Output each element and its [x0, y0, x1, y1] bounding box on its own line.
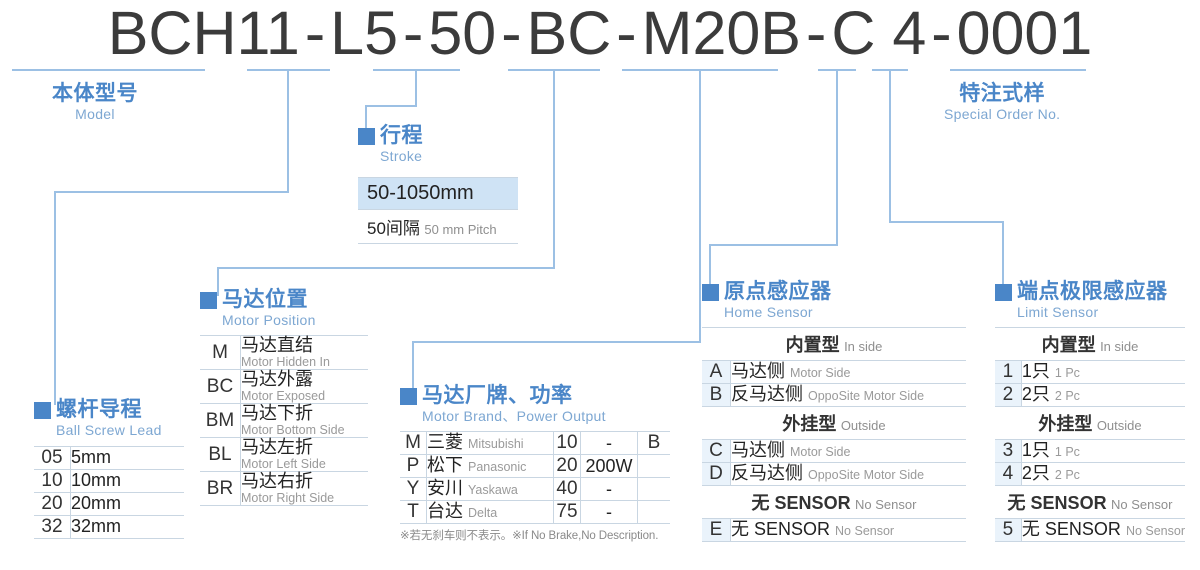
row-value-cn: 马达右折 — [241, 472, 368, 491]
row-power-code: 40 — [554, 478, 581, 501]
wire-stroke — [366, 70, 416, 132]
row-value: 马达下折 Motor Bottom Side — [241, 404, 369, 438]
bullet-square-icon — [200, 292, 217, 309]
table-row: 10 10mm — [34, 470, 184, 493]
row-value: 32mm — [71, 516, 185, 539]
row-brand: 松下Panasonic — [427, 455, 554, 478]
bullet-square-icon — [995, 284, 1012, 301]
table-row: 50间隔 50 mm Pitch — [358, 210, 518, 244]
row-brand: 三菱Mitsubishi — [427, 432, 554, 455]
row-value-en: 1 Pc — [1055, 366, 1080, 380]
block-stroke: 行程 Stroke 50-1050mm 50间隔 50 mm Pitch — [358, 124, 518, 244]
table-row-band: 无 SENSOR No Sensor — [702, 486, 966, 519]
row-value: 马达外露 Motor Exposed — [241, 370, 369, 404]
block-limit-sensor-title-cn: 端点极限感应器 — [1017, 280, 1168, 304]
stroke-pitch-cn: 50间隔 — [367, 219, 420, 238]
block-ball-screw-title-en: Ball Screw Lead — [56, 422, 184, 439]
band-cn: 外挂型 — [782, 414, 836, 434]
row-value: 10mm — [71, 470, 185, 493]
table-row-band: 外挂型 Outside — [702, 407, 966, 440]
block-home-sensor-title-cn: 原点感应器 — [724, 280, 832, 304]
row-key: 3 — [995, 440, 1021, 463]
code-dash: - — [926, 3, 956, 64]
motor-brand-table: M 三菱Mitsubishi 10 - B P 松下Panasonic 20 2… — [400, 431, 670, 524]
row-brand-en: Delta — [468, 506, 497, 520]
block-stroke-heading: 行程 — [358, 124, 518, 148]
row-value: 2只2 Pc — [1021, 384, 1185, 407]
table-row: 2 2只2 Pc — [995, 384, 1185, 407]
table-row: E 无 SENSORNo Sensor — [702, 519, 966, 542]
band-en: In side — [844, 339, 882, 354]
block-model: 本体型号 Model — [52, 82, 138, 123]
row-value-en: 2 Pc — [1055, 389, 1080, 403]
row-value-cn: 无 SENSOR — [1022, 519, 1121, 539]
row-value-en: Motor Hidden In — [241, 356, 368, 369]
row-value-en: Motor Exposed — [241, 390, 368, 403]
row-key: BM — [200, 404, 241, 438]
band-inside: 内置型 In side — [995, 328, 1185, 361]
row-value: 马达直结 Motor Hidden In — [241, 336, 369, 370]
row-brand-cn: 安川 — [427, 478, 463, 498]
row-key: C — [702, 440, 731, 463]
row-brake-code — [638, 501, 671, 524]
row-key: 2 — [995, 384, 1021, 407]
bullet-square-icon — [400, 388, 417, 405]
block-motor-brand-title-en: Motor Brand、Power Output — [422, 408, 670, 425]
row-power-code: 20 — [554, 455, 581, 478]
row-brand-en: Yaskawa — [468, 483, 518, 497]
stroke-pitch-cell: 50间隔 50 mm Pitch — [358, 210, 518, 244]
motor-brand-rows: M 三菱Mitsubishi 10 - B P 松下Panasonic 20 2… — [400, 432, 670, 524]
row-key: 4 — [995, 463, 1021, 486]
block-stroke-title-cn: 行程 — [380, 124, 423, 148]
row-value: 1只1 Pc — [1021, 361, 1185, 384]
row-brand-cn: 台达 — [427, 501, 463, 521]
table-row: M 三菱Mitsubishi 10 - B — [400, 432, 670, 455]
code-segment-lead: L5 — [330, 3, 398, 64]
code-segment-special: 0001 — [957, 3, 1093, 64]
table-row: BM 马达下折 Motor Bottom Side — [200, 404, 368, 438]
limit-sensor-table: 内置型 In side 1 1只1 Pc 2 2只2 Pc — [995, 327, 1185, 542]
table-row: C 马达侧Motor Side — [702, 440, 966, 463]
row-power-text: 200W — [585, 456, 632, 476]
band-cn: 内置型 — [1042, 335, 1096, 355]
band-cn: 无 SENSOR — [752, 493, 851, 513]
table-row: 3 1只1 Pc — [995, 440, 1185, 463]
row-key: BL — [200, 438, 241, 472]
band-outside: 外挂型 Outside — [995, 407, 1185, 440]
block-limit-sensor: 端点极限感应器 Limit Sensor 内置型 In side 1 1只1 P… — [995, 280, 1185, 542]
home-sensor-table: 内置型 In side A 马达侧Motor Side B 反马达侧OppoSi… — [702, 327, 966, 542]
row-value-cn: 2只 — [1022, 384, 1050, 404]
stroke-range-cell: 50-1050mm — [358, 178, 518, 210]
row-power-watt: - — [581, 501, 638, 524]
row-value: 20mm — [71, 493, 185, 516]
row-value-cn: 马达侧 — [731, 440, 785, 460]
band-en: Outside — [841, 418, 886, 433]
row-value-cn: 1只 — [1022, 440, 1050, 460]
row-brand-en: Panasonic — [468, 460, 526, 474]
motor-brand-footnote: ※若无刹车则不表示。※If No Brake,No Description. — [400, 527, 670, 543]
band-en: In side — [1100, 339, 1138, 354]
code-segment-motor-pos: BC — [527, 3, 612, 64]
row-power-watt: - — [581, 432, 638, 455]
table-row-band: 内置型 In side — [995, 328, 1185, 361]
block-motor-position-heading: 马达位置 — [200, 288, 368, 312]
code-dash: - — [611, 3, 641, 64]
table-row: P 松下Panasonic 20 200W — [400, 455, 670, 478]
row-value-text: 5mm — [71, 447, 111, 467]
code-dash: - — [398, 3, 428, 64]
row-value: 2只2 Pc — [1021, 463, 1185, 486]
row-key: BR — [200, 472, 241, 506]
block-limit-sensor-heading: 端点极限感应器 — [995, 280, 1185, 304]
band-en: Outside — [1097, 418, 1142, 433]
row-key: E — [702, 519, 731, 542]
band-en: No Sensor — [1111, 497, 1172, 512]
row-power-code: 10 — [554, 432, 581, 455]
row-value-cn: 1只 — [1022, 361, 1050, 381]
row-power-code: 75 — [554, 501, 581, 524]
row-key: P — [400, 455, 427, 478]
row-value-cn: 反马达侧 — [731, 384, 803, 404]
band-inside: 内置型 In side — [702, 328, 966, 361]
block-limit-sensor-title-en: Limit Sensor — [1017, 304, 1185, 321]
block-ball-screw-lead: 螺杆导程 Ball Screw Lead 05 5mm 10 10mm 20 2… — [34, 398, 184, 539]
row-key: BC — [200, 370, 241, 404]
row-key: T — [400, 501, 427, 524]
row-value-text: 10mm — [71, 470, 121, 490]
row-power-text: - — [606, 502, 612, 522]
row-value-cn: 马达左折 — [241, 438, 368, 457]
block-home-sensor: 原点感应器 Home Sensor 内置型 In side A 马达侧Motor… — [702, 280, 966, 542]
block-motor-brand: 马达厂牌、功率 Motor Brand、Power Output M 三菱Mit… — [400, 384, 670, 543]
table-row: B 反马达侧OppoSite Motor Side — [702, 384, 966, 407]
code-segment-sensors: C 4 — [831, 3, 926, 64]
code-segment-brand: M20B — [642, 3, 801, 64]
row-power-watt: 200W — [581, 455, 638, 478]
table-row: D 反马达侧OppoSite Motor Side — [702, 463, 966, 486]
row-power-text: - — [606, 479, 612, 499]
row-value-cn: 马达直结 — [241, 336, 368, 355]
band-outside: 外挂型 Outside — [702, 407, 966, 440]
row-key: 1 — [995, 361, 1021, 384]
row-value-text: 32mm — [71, 516, 121, 536]
block-motor-position-title-en: Motor Position — [222, 312, 368, 329]
row-brake-code — [638, 478, 671, 501]
motor-position-table: M 马达直结 Motor Hidden In BC 马达外露 Motor Exp… — [200, 335, 368, 506]
code-segment-model: BCH11 — [108, 3, 300, 64]
ball-screw-lead-table: 05 5mm 10 10mm 20 20mm 32 32mm — [34, 446, 184, 539]
band-no-sensor: 无 SENSOR No Sensor — [995, 486, 1185, 519]
row-value-en: Motor Right Side — [241, 492, 368, 505]
row-brand-cn: 松下 — [427, 455, 463, 475]
row-value: 反马达侧OppoSite Motor Side — [731, 384, 967, 407]
table-row: T 台达Delta 75 - — [400, 501, 670, 524]
block-special-title-en: Special Order No. — [944, 106, 1060, 123]
table-row: 4 2只2 Pc — [995, 463, 1185, 486]
block-ball-screw-title-cn: 螺杆导程 — [56, 398, 142, 422]
motor-position-rows: M 马达直结 Motor Hidden In BC 马达外露 Motor Exp… — [200, 336, 368, 506]
table-row: 5 无 SENSORNo Sensor — [995, 519, 1185, 542]
row-key: 32 — [34, 516, 71, 539]
block-home-sensor-title-en: Home Sensor — [724, 304, 966, 321]
code-dash: - — [300, 3, 330, 64]
block-home-sensor-heading: 原点感应器 — [702, 280, 966, 304]
stroke-pitch-en: 50 mm Pitch — [424, 222, 496, 237]
row-value-text: 20mm — [71, 493, 121, 513]
band-cn: 外挂型 — [1038, 414, 1092, 434]
row-key: 05 — [34, 447, 71, 470]
table-row: Y 安川Yaskawa 40 - — [400, 478, 670, 501]
product-code: BCH11 - L5 - 50 - BC - M20B - C 4 - 0001 — [0, 0, 1200, 66]
block-ball-screw-heading: 螺杆导程 — [34, 398, 184, 422]
row-value-en: OppoSite Motor Side — [808, 468, 924, 482]
row-value: 马达侧Motor Side — [731, 440, 967, 463]
row-value-cn: 马达侧 — [731, 361, 785, 381]
block-model-title-cn: 本体型号 — [52, 82, 138, 106]
band-cn: 无 SENSOR — [1008, 493, 1107, 513]
code-dash: - — [496, 3, 526, 64]
row-value-en: Motor Bottom Side — [241, 424, 368, 437]
band-no-sensor: 无 SENSOR No Sensor — [702, 486, 966, 519]
block-special-title-cn: 特注式样 — [944, 82, 1060, 106]
block-motor-brand-title-cn: 马达厂牌、功率 — [422, 384, 573, 408]
row-value-en: Motor Left Side — [241, 458, 368, 471]
row-brand: 台达Delta — [427, 501, 554, 524]
table-row: BR 马达右折 Motor Right Side — [200, 472, 368, 506]
row-value-en: No Sensor — [835, 524, 894, 538]
row-key: A — [702, 361, 731, 384]
table-row: 20 20mm — [34, 493, 184, 516]
bullet-square-icon — [702, 284, 719, 301]
row-value: 1只1 Pc — [1021, 440, 1185, 463]
table-row: A 马达侧Motor Side — [702, 361, 966, 384]
row-value-cn: 无 SENSOR — [731, 519, 830, 539]
row-power-watt: - — [581, 478, 638, 501]
table-row-band: 外挂型 Outside — [995, 407, 1185, 440]
block-motor-brand-heading: 马达厂牌、功率 — [400, 384, 670, 408]
home-sensor-rows: 内置型 In side A 马达侧Motor Side B 反马达侧OppoSi… — [702, 328, 966, 542]
table-row-band: 内置型 In side — [702, 328, 966, 361]
table-row: 05 5mm — [34, 447, 184, 470]
row-value: 反马达侧OppoSite Motor Side — [731, 463, 967, 486]
wire-home-sensor — [710, 70, 837, 288]
row-value: 5mm — [71, 447, 185, 470]
block-motor-position: 马达位置 Motor Position M 马达直结 Motor Hidden … — [200, 288, 368, 506]
bullet-square-icon — [358, 128, 375, 145]
row-brand-en: Mitsubishi — [468, 437, 524, 451]
row-key: B — [702, 384, 731, 407]
row-brake-code — [638, 455, 671, 478]
row-value-en: 1 Pc — [1055, 445, 1080, 459]
bullet-square-icon — [34, 402, 51, 419]
diagram-canvas: BCH11 - L5 - 50 - BC - M20B - C 4 - 0001… — [0, 0, 1200, 570]
row-value: 马达右折 Motor Right Side — [241, 472, 369, 506]
table-row-band: 无 SENSOR No Sensor — [995, 486, 1185, 519]
row-key: Y — [400, 478, 427, 501]
band-cn: 内置型 — [786, 335, 840, 355]
code-dash: - — [801, 3, 831, 64]
row-value-en: Motor Side — [790, 445, 850, 459]
ball-screw-rows: 05 5mm 10 10mm 20 20mm 32 32mm — [34, 447, 184, 539]
table-row: M 马达直结 Motor Hidden In — [200, 336, 368, 370]
row-value-cn: 反马达侧 — [731, 463, 803, 483]
row-value-en: OppoSite Motor Side — [808, 389, 924, 403]
code-segment-stroke: 50 — [428, 3, 496, 64]
table-row: 32 32mm — [34, 516, 184, 539]
table-row: BL 马达左折 Motor Left Side — [200, 438, 368, 472]
row-key: D — [702, 463, 731, 486]
row-brand: 安川Yaskawa — [427, 478, 554, 501]
row-key: M — [200, 336, 241, 370]
row-value-cn: 2只 — [1022, 463, 1050, 483]
row-value-cn: 马达外露 — [241, 370, 368, 389]
block-stroke-title-en: Stroke — [380, 148, 518, 165]
band-en: No Sensor — [855, 497, 916, 512]
row-value: 无 SENSORNo Sensor — [1021, 519, 1185, 542]
row-value-en: No Sensor — [1126, 524, 1185, 538]
block-model-title-en: Model — [52, 106, 138, 123]
row-brake-code: B — [638, 432, 671, 455]
row-value: 马达左折 Motor Left Side — [241, 438, 369, 472]
table-row: 50-1050mm — [358, 178, 518, 210]
block-special-order: 特注式样 Special Order No. — [944, 82, 1060, 123]
row-power-text: - — [606, 433, 612, 453]
row-value-cn: 马达下折 — [241, 404, 368, 423]
table-row: 1 1只1 Pc — [995, 361, 1185, 384]
row-key: 10 — [34, 470, 71, 493]
limit-sensor-rows: 内置型 In side 1 1只1 Pc 2 2只2 Pc — [995, 328, 1185, 542]
stroke-range-value: 50-1050mm — [367, 182, 474, 204]
row-value-en: Motor Side — [790, 366, 850, 380]
row-key: 20 — [34, 493, 71, 516]
stroke-table: 50-1050mm 50间隔 50 mm Pitch — [358, 177, 518, 244]
block-motor-position-title-cn: 马达位置 — [222, 288, 308, 312]
row-key: M — [400, 432, 427, 455]
row-value: 马达侧Motor Side — [731, 361, 967, 384]
row-value: 无 SENSORNo Sensor — [731, 519, 967, 542]
row-key: 5 — [995, 519, 1021, 542]
row-value-en: 2 Pc — [1055, 468, 1080, 482]
table-row: BC 马达外露 Motor Exposed — [200, 370, 368, 404]
row-brand-cn: 三菱 — [427, 432, 463, 452]
